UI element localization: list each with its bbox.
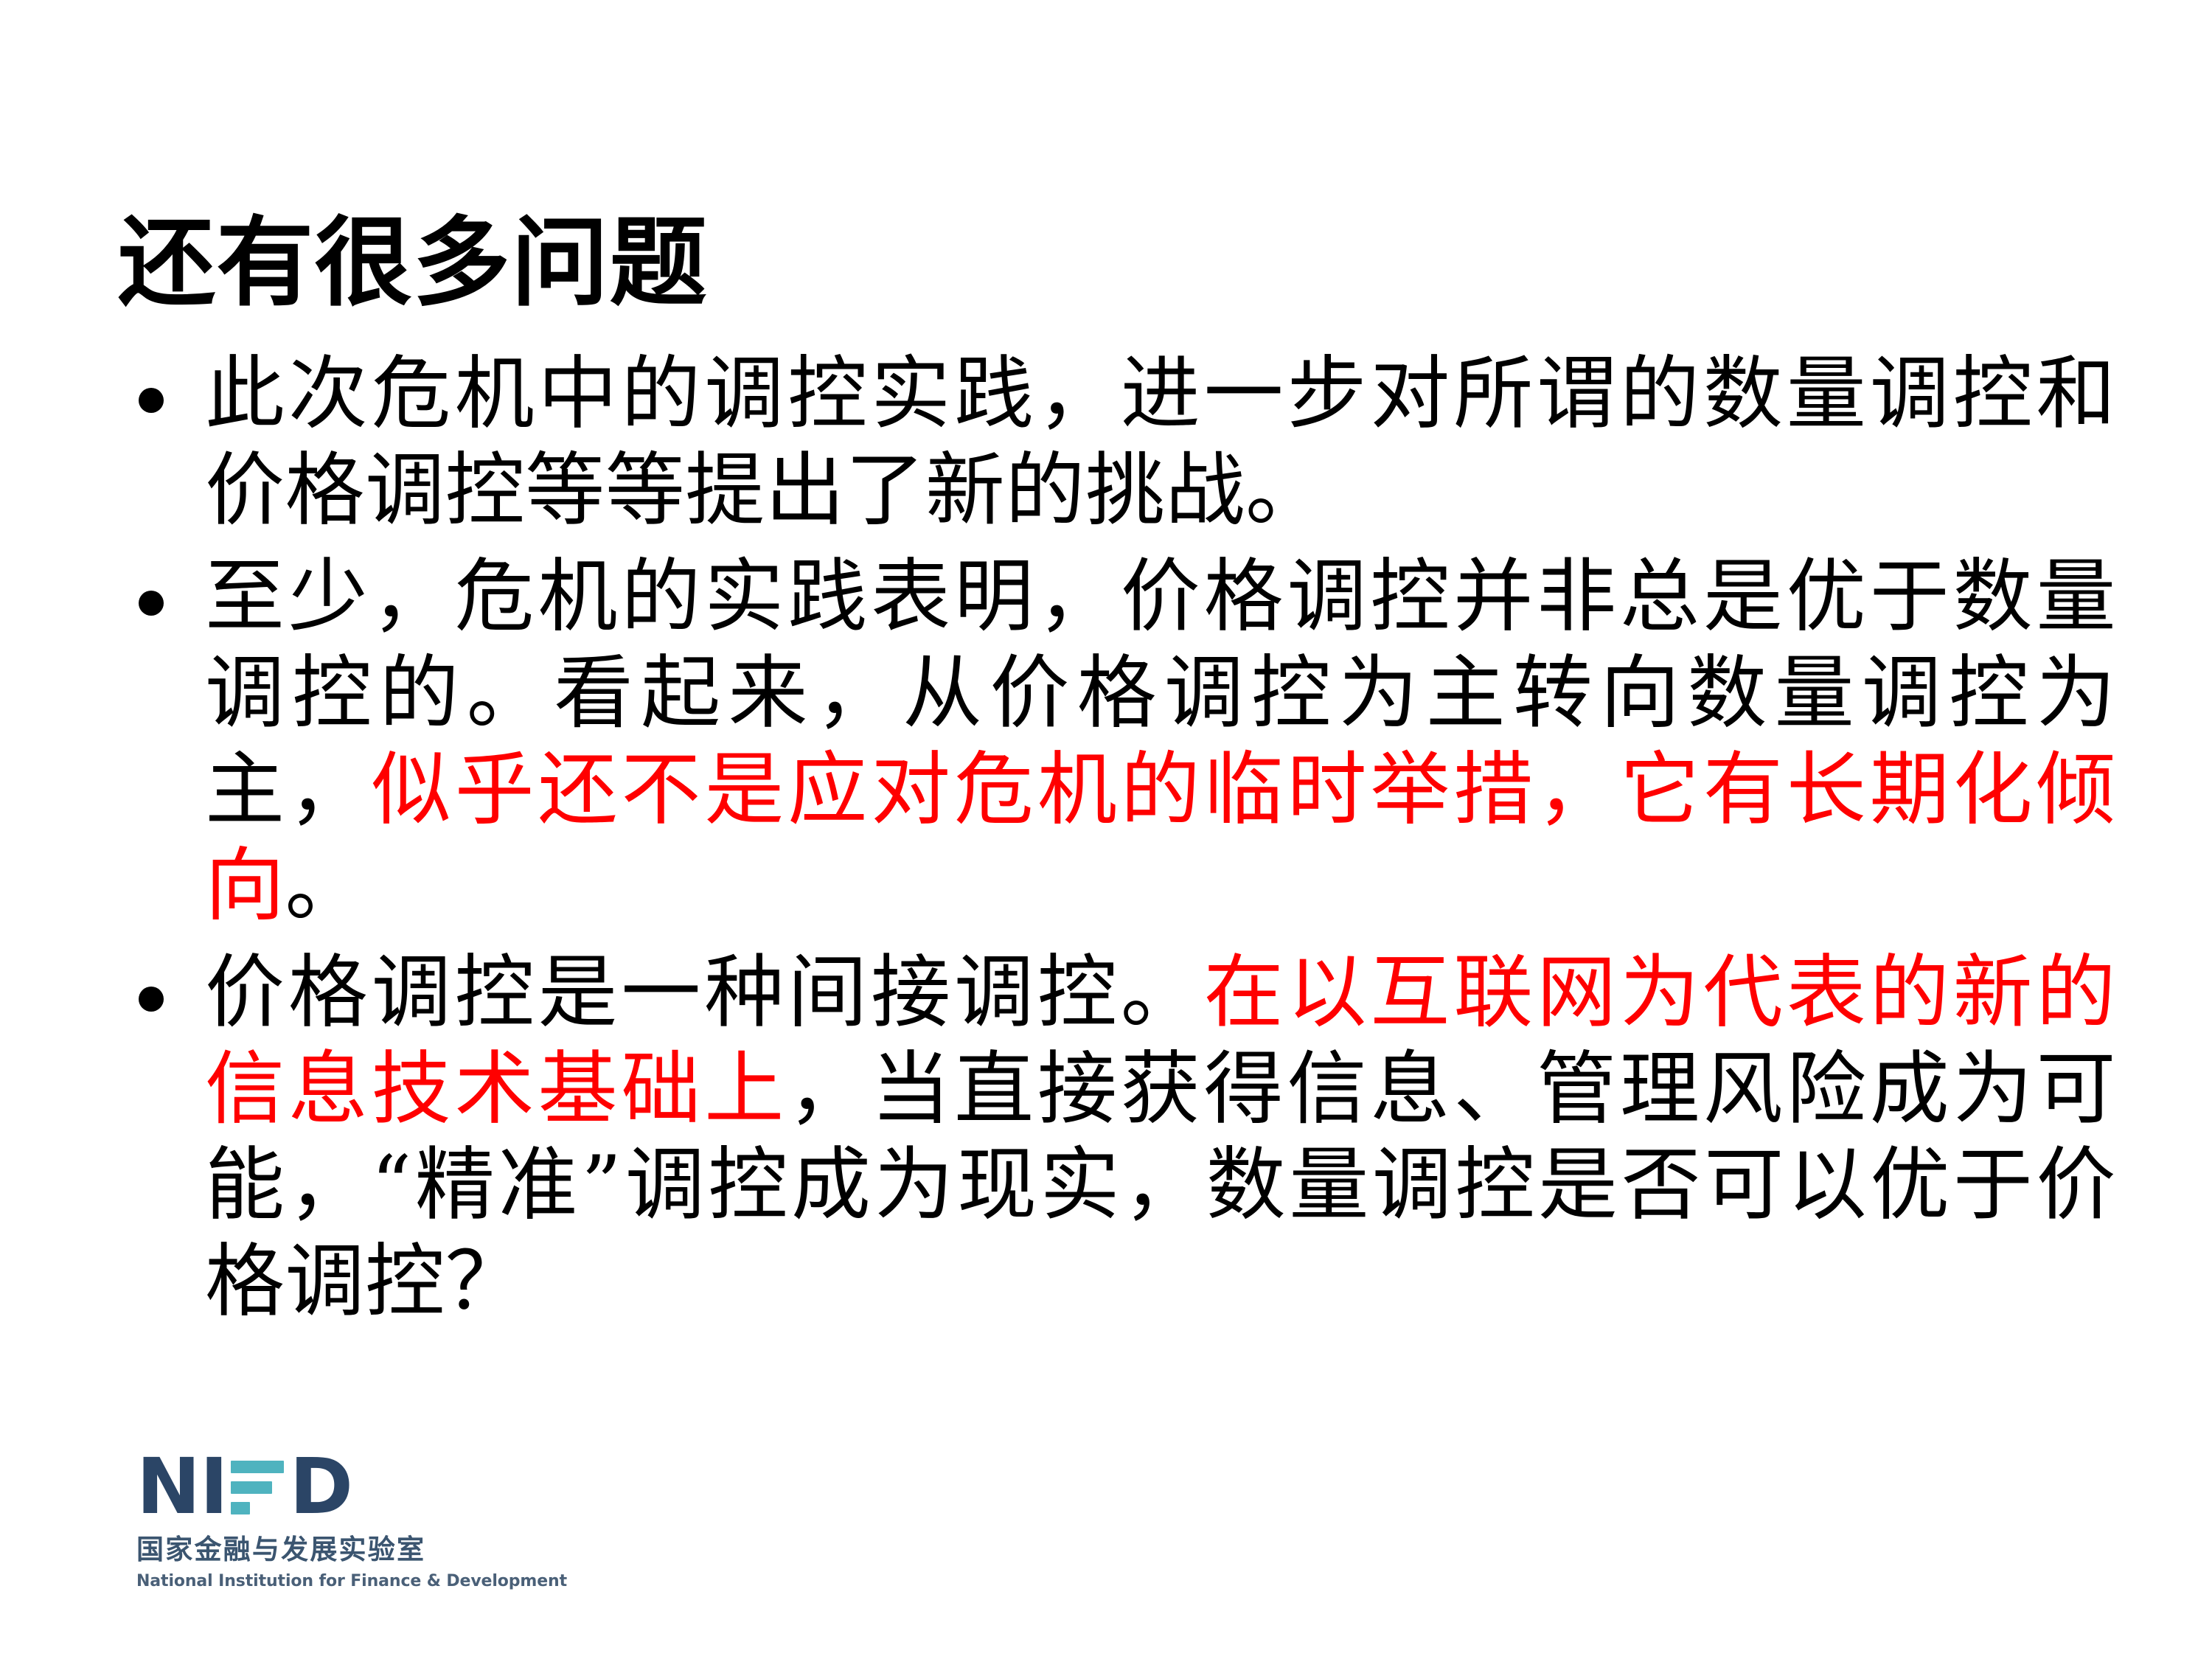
list-item: 至少，危机的实践表明，价格调控并非总是优于数量调控的。看起来，从价格调控为主转向…	[111, 549, 2116, 935]
logo-f-bars-icon	[231, 1459, 284, 1517]
list-item-text: 价格调控是一种间接调控。在以互联网为代表的新的信息技术基础上，当直接获得信息、管…	[205, 945, 2116, 1331]
text-segment: 价格调控是一种间接调控。	[205, 947, 1204, 1039]
page-title: 还有很多问题	[118, 212, 2109, 315]
list-item: 价格调控是一种间接调控。在以互联网为代表的新的信息技术基础上，当直接获得信息、管…	[111, 945, 2116, 1331]
list-item-text: 至少，危机的实践表明，价格调控并非总是优于数量调控的。看起来，从价格调控为主转向…	[205, 549, 2116, 935]
bullet-marker-icon	[139, 987, 164, 1012]
logo-f-bar-bottom	[231, 1502, 250, 1514]
nifd-logo: NI D 国家金融与发展实验室 National Institution for…	[136, 1456, 446, 1590]
slide-canvas: 还有很多问题 此次危机中的调控实践，进一步对所谓的数量调控和价格调控等等提出了新…	[0, 0, 2212, 1659]
logo-letters-ni: NI	[136, 1457, 228, 1517]
nifd-wordmark-icon: NI D	[136, 1456, 446, 1517]
bullet-list: 此次危机中的调控实践，进一步对所谓的数量调控和价格调控等等提出了新的挑战。 至少…	[111, 347, 2116, 1341]
logo-letter-d: D	[290, 1457, 352, 1517]
bullet-marker-icon	[139, 388, 164, 413]
text-segment: 此次危机中的调控实践，进一步对所谓的数量调控和价格调控等等提出了新的挑战。	[205, 348, 2116, 537]
text-segment-highlight: 似乎还不是应对危机的临时举措，它有长期化倾向	[205, 744, 2116, 933]
logo-f-bar-top	[231, 1461, 284, 1473]
list-item-text: 此次危机中的调控实践，进一步对所谓的数量调控和价格调控等等提出了新的挑战。	[205, 347, 2116, 539]
text-segment: 。	[285, 840, 366, 932]
logo-f-bar-middle	[231, 1481, 272, 1494]
bullet-marker-icon	[139, 591, 164, 616]
logo-english-name: National Institution for Finance & Devel…	[136, 1572, 446, 1590]
list-item: 此次危机中的调控实践，进一步对所谓的数量调控和价格调控等等提出了新的挑战。	[111, 347, 2116, 539]
logo-chinese-name: 国家金融与发展实验室	[136, 1527, 446, 1567]
